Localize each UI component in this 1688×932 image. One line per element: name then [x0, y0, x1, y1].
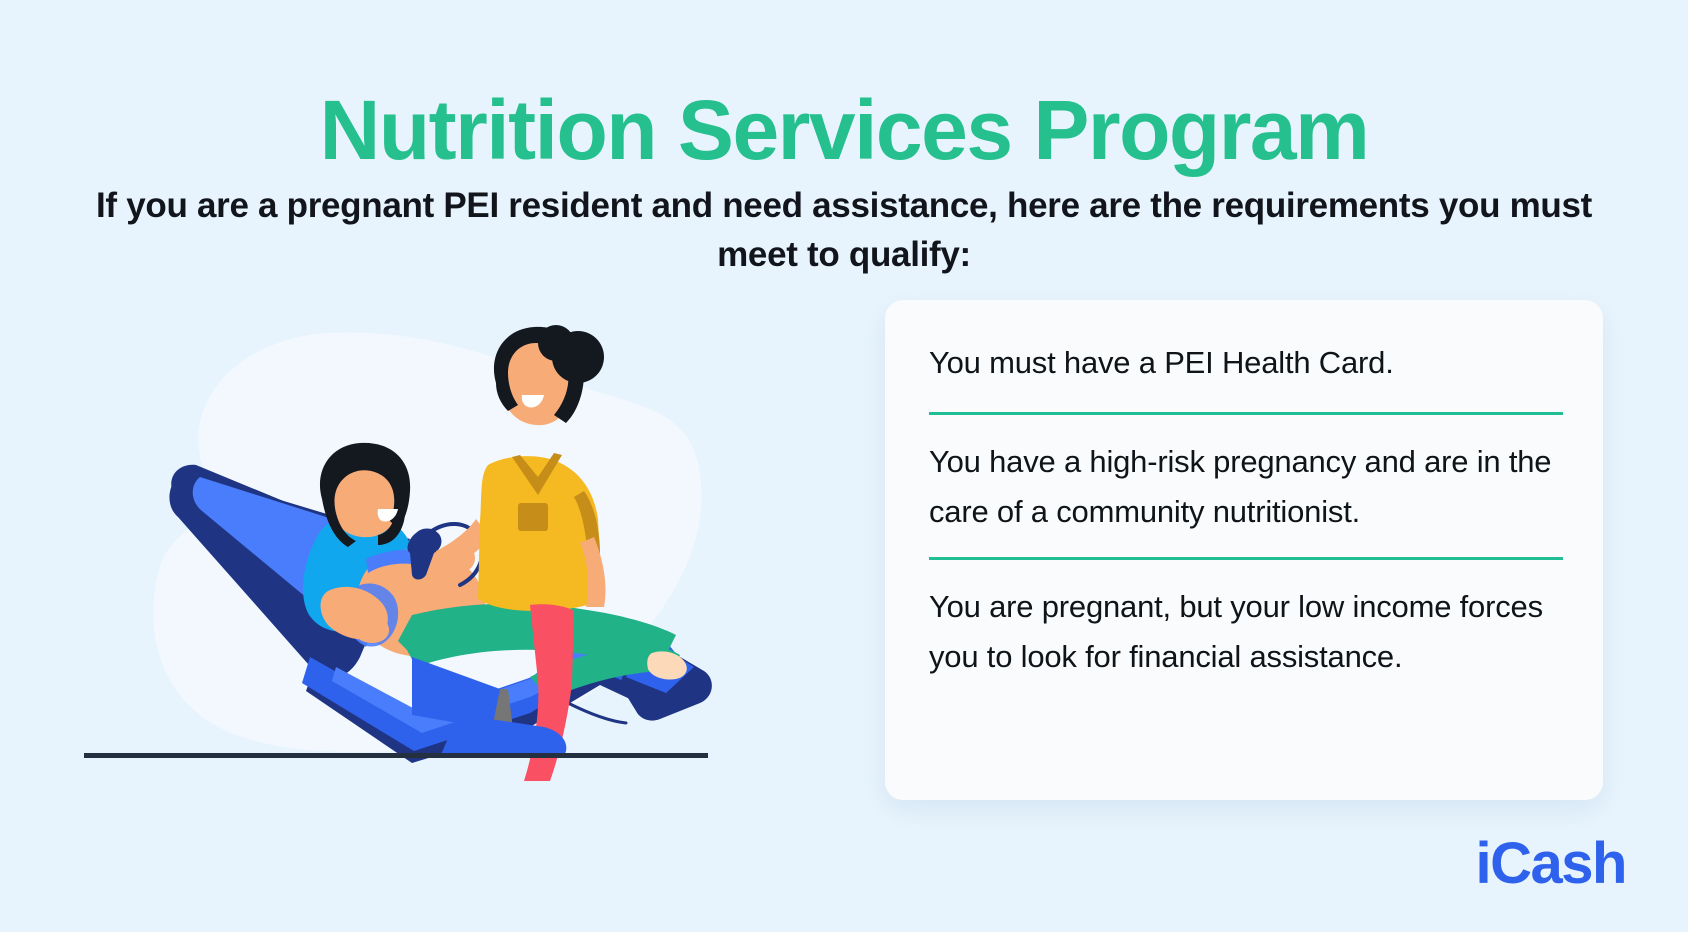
page-title: Nutrition Services Program [0, 82, 1688, 178]
requirement-item-1: You must have a PEI Health Card. [929, 338, 1563, 412]
infographic-canvas: Nutrition Services Program If you are a … [0, 0, 1688, 932]
pregnant-patient-with-nurse-illustration [60, 285, 800, 795]
requirement-item-2: You have a high-risk pregnancy and are i… [929, 415, 1563, 557]
nurse-scrubs-pocket [518, 503, 548, 531]
requirement-item-3: You are pregnant, but your low income fo… [929, 560, 1563, 682]
ground-line [84, 753, 708, 758]
requirements-list: You must have a PEI Health Card. You hav… [929, 338, 1563, 764]
page-subtitle: If you are a pregnant PEI resident and n… [84, 181, 1604, 279]
nurse-hand [442, 544, 475, 573]
icash-logo: iCash [1476, 832, 1626, 896]
requirements-card: You must have a PEI Health Card. You hav… [885, 300, 1603, 800]
nurse-hair-bun-inner [538, 325, 574, 361]
doppler-cable-trailing [568, 703, 626, 723]
